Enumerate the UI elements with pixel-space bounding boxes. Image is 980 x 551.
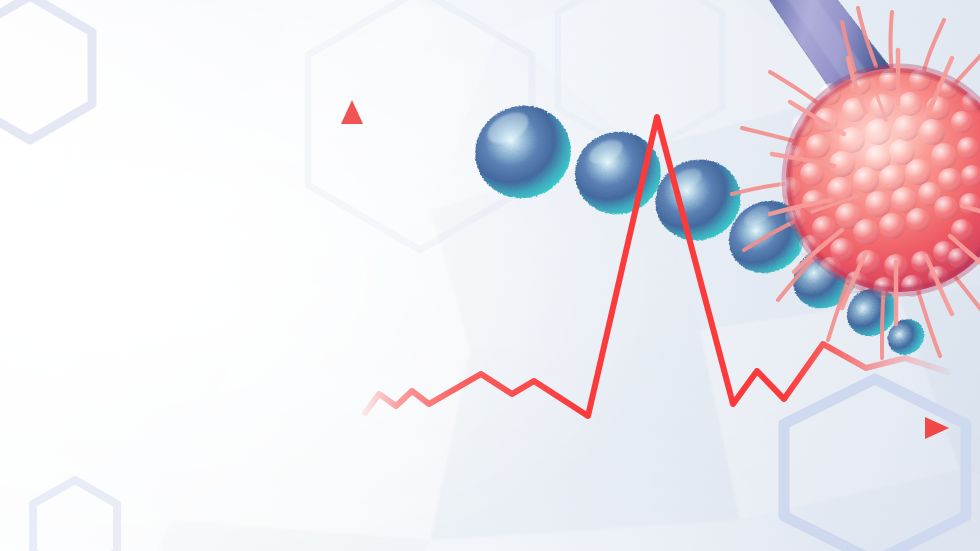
hero-banner: microbiology / medical research Soft whi… (0, 0, 980, 551)
background-illustration (0, 0, 980, 551)
